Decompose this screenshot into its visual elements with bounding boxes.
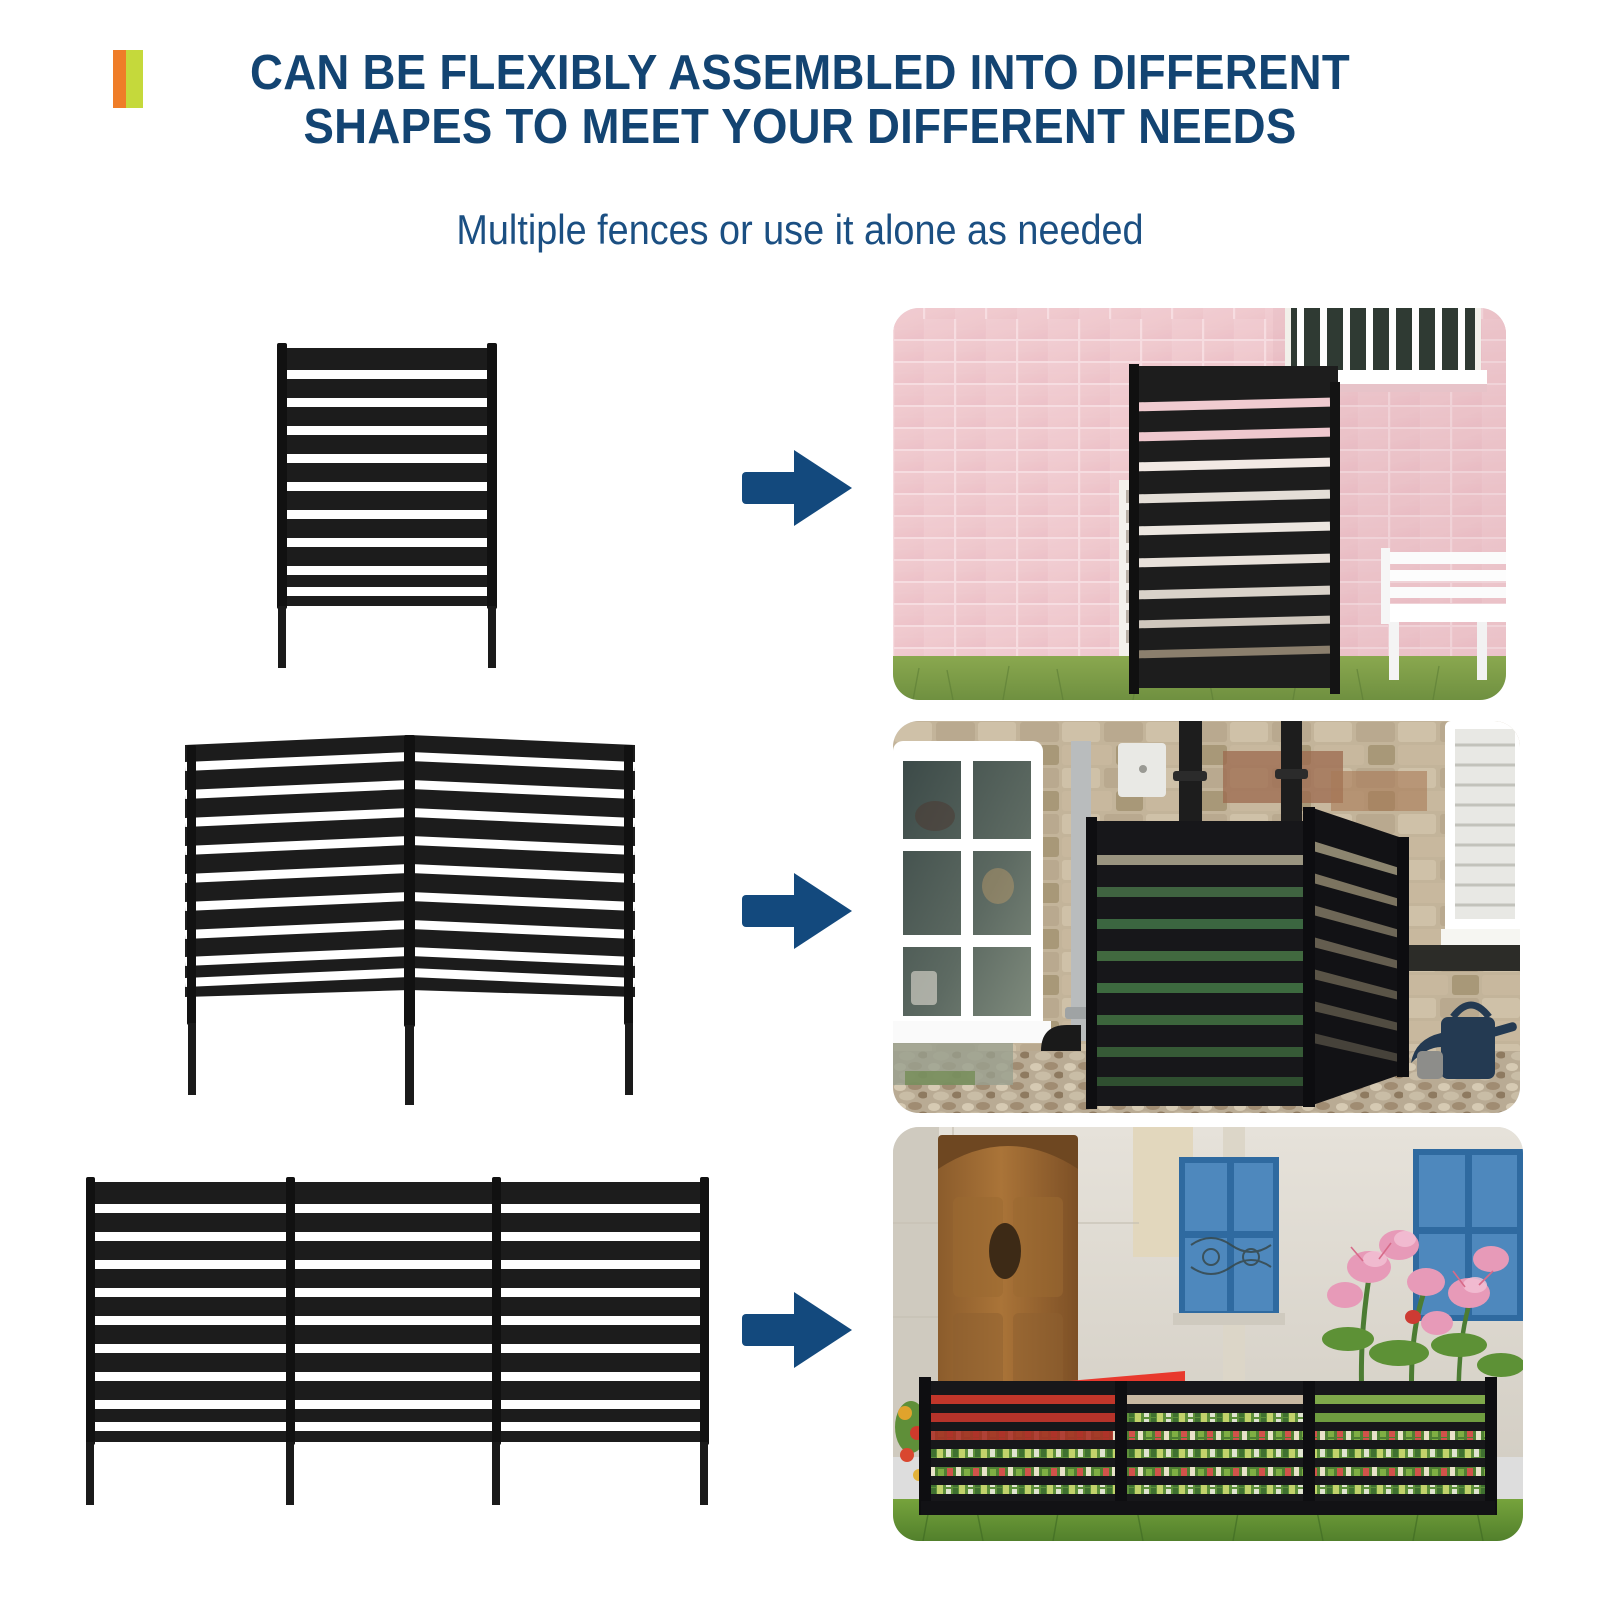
- slat-gap: [500, 1344, 705, 1353]
- slat-gap: [500, 1400, 705, 1409]
- photo-cell-3: [893, 1122, 1523, 1536]
- arrow-head: [794, 1292, 852, 1368]
- slat-gap: [410, 920, 635, 939]
- fence-leg-left: [188, 1023, 196, 1095]
- slat-gap: [280, 587, 492, 596]
- slat-gap: [500, 1316, 705, 1325]
- slat-gap: [185, 808, 410, 827]
- slat-gap: [500, 1372, 705, 1381]
- slat-gap: [410, 864, 635, 883]
- slat-gap: [88, 1372, 288, 1381]
- photo-cell-1: [893, 300, 1506, 692]
- slat-gap: [500, 1232, 705, 1241]
- arrow-head: [794, 450, 852, 526]
- fence-leg-right: [488, 606, 496, 668]
- arrow-cell-1: [720, 300, 890, 712]
- fence-panel: [410, 735, 635, 997]
- fence-panel: [88, 1182, 288, 1442]
- fence-leg-2: [286, 1442, 294, 1505]
- diagram-cell-1: [60, 300, 720, 712]
- slat-gap: [88, 1204, 288, 1213]
- photo-pink-brick-wall-single-panel: [893, 308, 1506, 700]
- slat-gap: [185, 920, 410, 939]
- slat-gap: [185, 947, 410, 966]
- fence-leg-left: [278, 606, 286, 668]
- fence-post-3: [492, 1177, 501, 1445]
- slat-gap: [185, 864, 410, 883]
- slat-gap: [280, 566, 492, 575]
- headline: CAN BE FLEXIBLY ASSEMBLED INTO DIFFERENT…: [0, 46, 1600, 154]
- slat-gap: [500, 1260, 705, 1269]
- slat-gap: [294, 1316, 494, 1325]
- two-panel-corner-fence-diagram: [185, 735, 635, 1095]
- slat-gap: [410, 780, 635, 799]
- photo-1-illustration: [893, 308, 1506, 700]
- slat-gap: [280, 370, 492, 379]
- slat-gap: [280, 482, 492, 491]
- slat-gap: [294, 1372, 494, 1381]
- slat-gap: [500, 1422, 705, 1431]
- slat-gap: [294, 1260, 494, 1269]
- row-single-panel: [0, 300, 1600, 712]
- slat-gap: [410, 968, 635, 987]
- diagram-cell-3: [60, 1122, 720, 1562]
- three-panel-straight-fence-diagram: [78, 1174, 718, 1534]
- slat-gap: [185, 892, 410, 911]
- arrow-cell-2: [720, 713, 890, 1123]
- fence-panel: [280, 348, 492, 606]
- fence-panel: [185, 735, 410, 997]
- fence-post-left: [277, 343, 287, 609]
- slat-gap: [88, 1344, 288, 1353]
- slat-gap: [88, 1232, 288, 1241]
- fence-leg-right: [625, 1023, 633, 1095]
- slat-gap: [294, 1400, 494, 1409]
- fence-leg-3: [492, 1442, 500, 1505]
- arrow-right-icon: [742, 873, 852, 949]
- headline-line-2: SHAPES TO MEET YOUR DIFFERENT NEEDS: [56, 100, 1544, 154]
- arrow-right-icon: [742, 1292, 852, 1368]
- fence-leg-1: [86, 1442, 94, 1505]
- diagram-cell-2: [60, 713, 720, 1123]
- arrow-head: [794, 873, 852, 949]
- slat-gap: [294, 1344, 494, 1353]
- slat-gap: [410, 808, 635, 827]
- slat-gap: [280, 538, 492, 547]
- photo-3-illustration: [893, 1127, 1523, 1541]
- slat-gap: [500, 1204, 705, 1213]
- slat-gap: [410, 752, 635, 771]
- photo-2-illustration: [893, 721, 1520, 1113]
- fence-leg-center: [405, 1025, 414, 1105]
- fence-post-2: [286, 1177, 295, 1445]
- fence-post-4: [700, 1177, 709, 1445]
- headline-line-1: CAN BE FLEXIBLY ASSEMBLED INTO DIFFERENT: [56, 46, 1544, 100]
- slat-gap: [88, 1400, 288, 1409]
- slat-gap: [280, 510, 492, 519]
- slat-gap: [280, 398, 492, 407]
- slat-gap: [88, 1260, 288, 1269]
- slat-gap: [500, 1288, 705, 1297]
- arrow-cell-3: [720, 1122, 890, 1562]
- slat-gap: [88, 1288, 288, 1297]
- slat-gap: [88, 1422, 288, 1431]
- slat-gap: [185, 968, 410, 987]
- header: CAN BE FLEXIBLY ASSEMBLED INTO DIFFERENT…: [0, 0, 1600, 285]
- fence-panel: [500, 1182, 705, 1442]
- fence-post-center: [404, 735, 415, 1027]
- single-panel-fence-diagram: [272, 340, 502, 670]
- slat-gap: [280, 454, 492, 463]
- slat-gap: [294, 1204, 494, 1213]
- slat-gap: [410, 836, 635, 855]
- subheadline: Multiple fences or use it alone as neede…: [80, 206, 1520, 254]
- photo-cell-2: [893, 713, 1520, 1105]
- photo-french-house-long-fence: [893, 1127, 1523, 1541]
- fence-post-1: [86, 1177, 95, 1445]
- slat-gap: [410, 947, 635, 966]
- row-corner-enclosure: [0, 713, 1600, 1123]
- fence-wing-left: [185, 735, 410, 1025]
- slat-gap: [185, 780, 410, 799]
- slat-gap: [410, 892, 635, 911]
- fence-panel: [294, 1182, 494, 1442]
- slat-gap: [294, 1232, 494, 1241]
- slat-gap: [294, 1422, 494, 1431]
- slat-gap: [294, 1288, 494, 1297]
- slat-gap: [280, 426, 492, 435]
- photo-stone-house-corner-enclosure: [893, 721, 1520, 1113]
- fence-wing-right: [410, 735, 635, 1025]
- slat-gap: [185, 836, 410, 855]
- fence-post-right: [624, 745, 633, 1025]
- row-long-fence: [0, 1122, 1600, 1562]
- slat-gap: [185, 752, 410, 771]
- slat-gap: [88, 1316, 288, 1325]
- fence-post-left: [187, 745, 196, 1025]
- fence-post-right: [487, 343, 497, 609]
- fence-leg-4: [700, 1442, 708, 1505]
- arrow-right-icon: [742, 450, 852, 526]
